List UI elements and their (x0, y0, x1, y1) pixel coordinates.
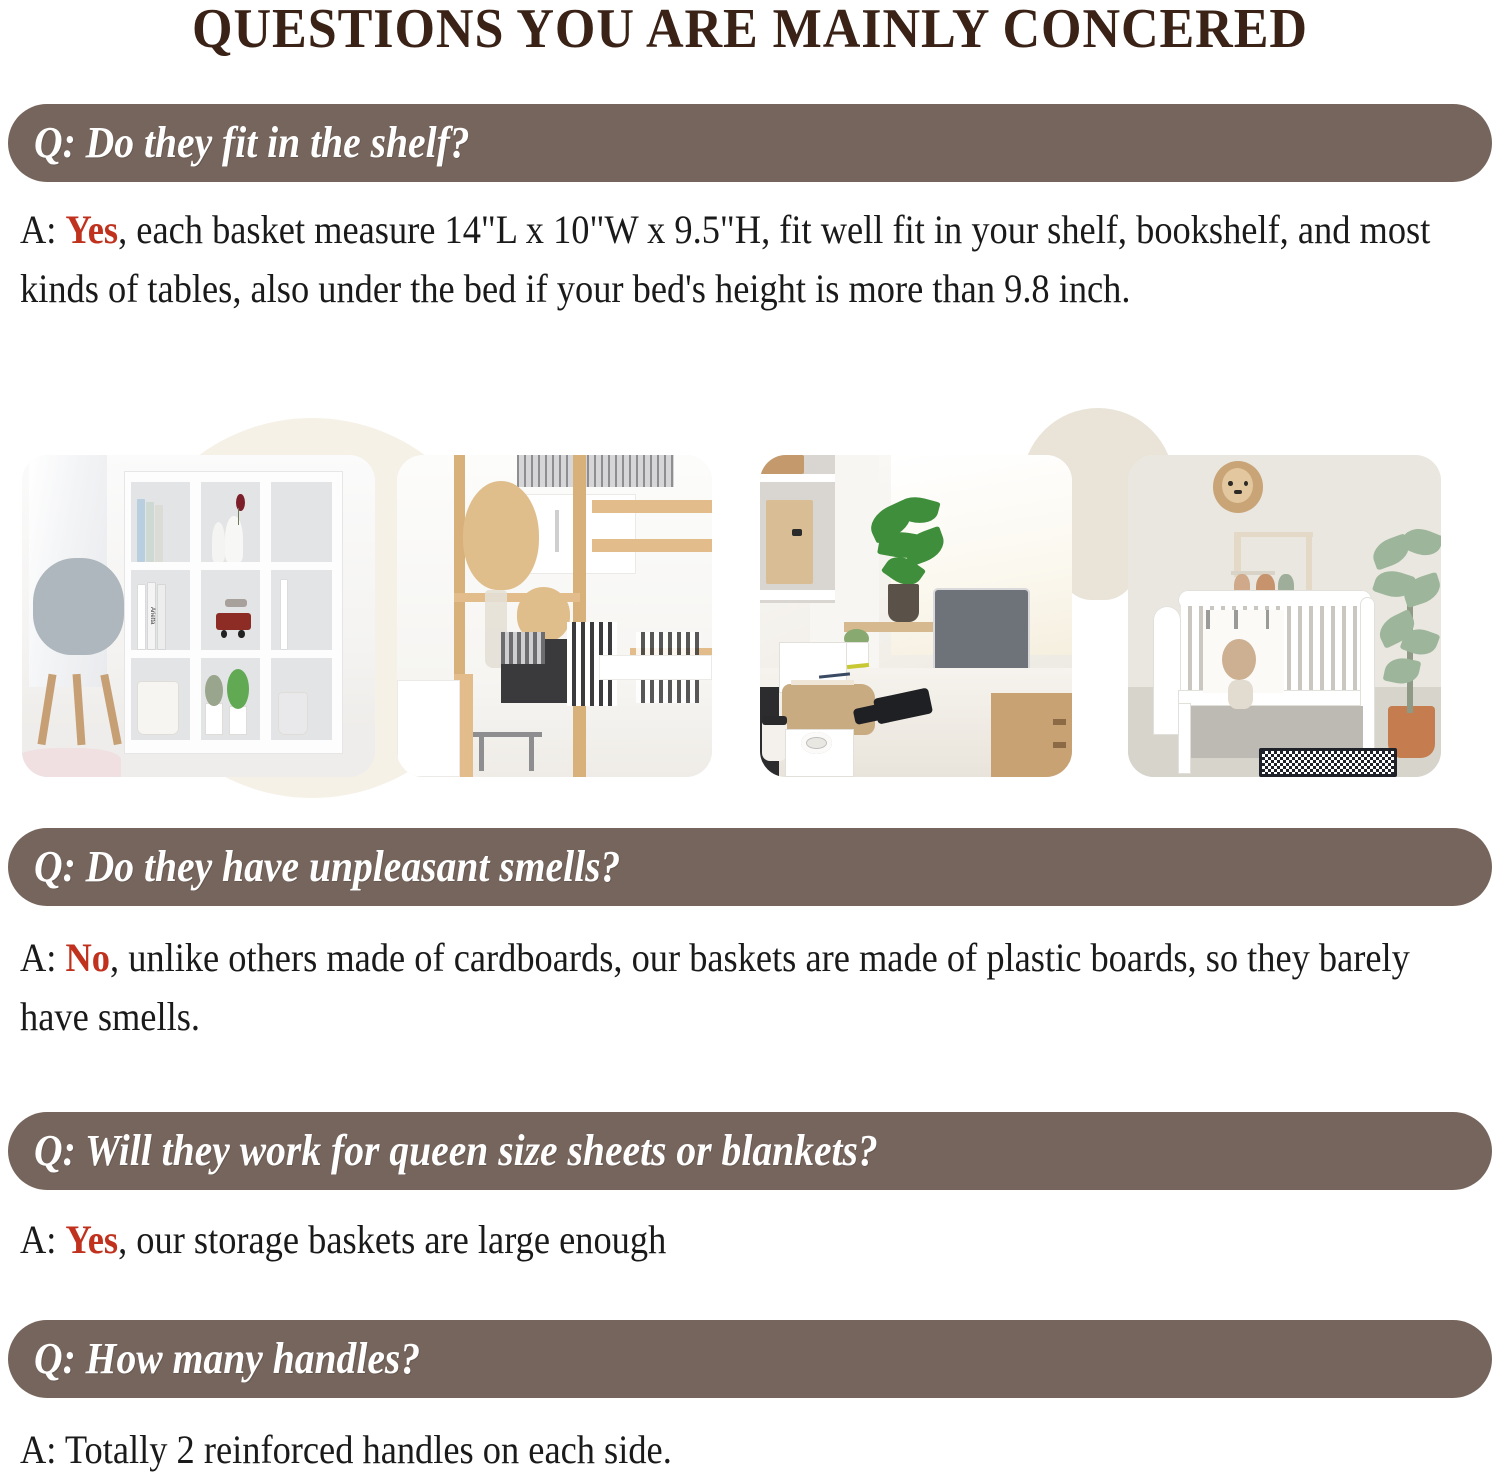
question-bar-1: Q: Do they fit in the shelf? (8, 104, 1492, 182)
faq-item-3: Q: Will they work for queen size sheets … (0, 1112, 1500, 1269)
answer-rest-2: , unlike others made of cardboards, our … (20, 935, 1410, 1039)
answer-text-1: A: Yes, each basket measure 14"L x 10"W … (0, 200, 1474, 318)
answer-text-2: A: No, unlike others made of cardboards,… (0, 928, 1474, 1046)
question-bar-4: Q: How many handles? (8, 1320, 1492, 1398)
question-text-2: Q: Do they have unpleasant smells? (34, 842, 620, 892)
answer-rest-1: , each basket measure 14"L x 10"W x 9.5"… (20, 207, 1430, 311)
answer-text-4: A: Totally 2 reinforced handles on each … (0, 1420, 1474, 1479)
answer-rest-4: Totally 2 reinforced handles on each sid… (65, 1427, 672, 1472)
question-text-3: Q: Will they work for queen size sheets … (34, 1126, 878, 1176)
question-text-4: Q: How many handles? (34, 1334, 420, 1384)
answer-rest-3: , our storage baskets are large enough (118, 1217, 666, 1262)
question-text-1: Q: Do they fit in the shelf? (34, 118, 470, 168)
photo-gallery: Arietta (0, 455, 1500, 777)
page-title: QUESTIONS YOU ARE MAINLY CONCERED (53, 0, 1448, 62)
question-bar-2: Q: Do they have unpleasant smells? (8, 828, 1492, 906)
faq-item-2: Q: Do they have unpleasant smells? A: No… (0, 828, 1500, 1046)
answer-prefix-3: A: (20, 1217, 66, 1262)
faq-item-4: Q: How many handles? A: Totally 2 reinfo… (0, 1320, 1500, 1479)
answer-text-3: A: Yes, our storage baskets are large en… (0, 1210, 1474, 1269)
answer-prefix-2: A: (20, 935, 66, 980)
answer-highlight-2: No (66, 935, 110, 980)
book-spine-label: Arietta (148, 596, 155, 636)
answer-highlight-1: Yes (66, 207, 119, 252)
photo-bookshelf-living-room: Arietta (22, 455, 375, 777)
answer-highlight-3: Yes (66, 1217, 119, 1262)
answer-prefix-4: A: (20, 1427, 65, 1472)
answer-prefix-1: A: (20, 207, 66, 252)
question-bar-3: Q: Will they work for queen size sheets … (8, 1112, 1492, 1190)
photo-nursery-crib (1128, 455, 1441, 777)
faq-item-1: Q: Do they fit in the shelf? A: Yes, eac… (0, 104, 1500, 318)
photo-bamboo-shelf-rack (397, 455, 712, 777)
photo-home-office-desk (760, 455, 1072, 777)
